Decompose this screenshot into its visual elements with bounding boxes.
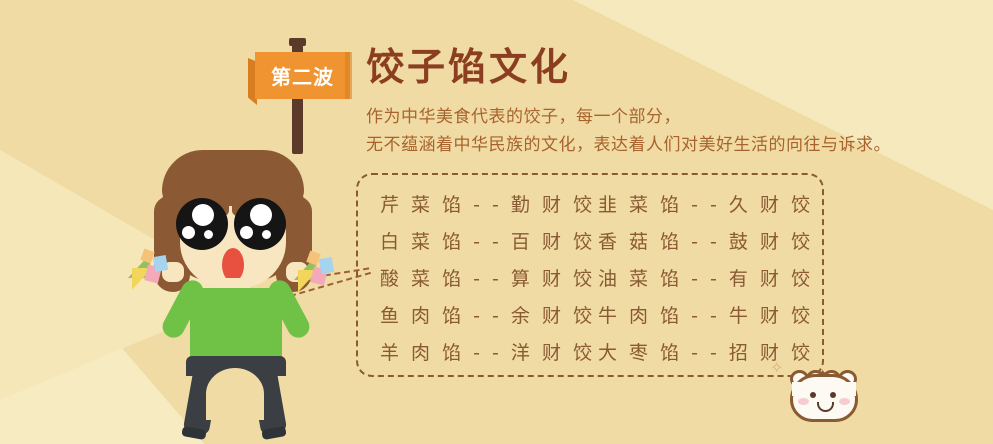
page-title: 饺子馅文化 (366, 48, 571, 86)
dumpling-filling-list: 芹 菜 馅 - - 勤 财 饺 韭 菜 馅 - - 久 财 饺 白 菜 馅 - … (356, 173, 824, 377)
infographic-canvas: 第二波 饺子馅文化 作为中华美食代表的饺子，每一个部分， 无不蕴涵着中华民族的文… (0, 0, 993, 444)
description-line-2: 无不蕴涵着中华民族的文化，表达着人们对美好生活的向往与诉求。 (366, 131, 891, 159)
list-item-left: 羊 肉 馅 - - 洋 财 饺 (380, 338, 598, 365)
list-item: 白 菜 馅 - - 百 财 饺 香 菇 馅 - - 鼓 财 饺 (380, 222, 824, 259)
sparkle-icon: ✧ (770, 360, 783, 376)
list-item-right: 油 菜 馅 - - 有 财 饺 (598, 264, 813, 291)
dumpling-mascot: ✧ ✦ (788, 368, 860, 426)
list-item-right: 香 菇 馅 - - 鼓 财 饺 (598, 227, 813, 254)
banner-post-cap (289, 38, 306, 46)
banner-flag-label: 第二波 (255, 52, 350, 99)
list-item-left: 酸 菜 馅 - - 算 财 饺 (380, 264, 598, 291)
girl-eye-right (234, 198, 286, 250)
origami-left (128, 248, 174, 292)
dumpling-blush-right (839, 398, 850, 405)
girl-illustration (128, 150, 340, 376)
page-description: 作为中华美食代表的饺子，每一个部分， 无不蕴涵着中华民族的文化，表达着人们对美好… (366, 103, 891, 159)
list-item: 芹 菜 馅 - - 勤 财 饺 韭 菜 馅 - - 久 财 饺 (380, 185, 824, 222)
dumpling-pleat-mask (792, 382, 856, 396)
list-item: 酸 菜 馅 - - 算 财 饺 油 菜 馅 - - 有 财 饺 (380, 259, 824, 296)
list-item-right: 韭 菜 馅 - - 久 财 饺 (598, 190, 813, 217)
list-item: 羊 肉 馅 - - 洋 财 饺 大 枣 馅 - - 招 财 饺 (380, 333, 824, 370)
list-item-left: 鱼 肉 馅 - - 余 财 饺 (380, 301, 598, 328)
girl-shirt (190, 288, 282, 366)
dumpling-eye-right (830, 392, 836, 398)
dumpling-blush-left (798, 398, 809, 405)
list-item-left: 芹 菜 馅 - - 勤 财 饺 (380, 190, 598, 217)
girl-leg-gap (206, 368, 264, 420)
girl-eye-left (176, 198, 228, 250)
list-item: 鱼 肉 馅 - - 余 财 饺 牛 肉 馅 - - 牛 财 饺 (380, 296, 824, 333)
list-item-right: 牛 肉 馅 - - 牛 财 饺 (598, 301, 813, 328)
list-item-left: 白 菜 馅 - - 百 财 饺 (380, 227, 598, 254)
girl-mouth (222, 248, 244, 282)
origami-right (294, 250, 340, 294)
sparkle-icon: ✦ (818, 368, 827, 379)
dumpling-eye-left (810, 392, 816, 398)
description-line-1: 作为中华美食代表的饺子，每一个部分， (366, 103, 891, 131)
